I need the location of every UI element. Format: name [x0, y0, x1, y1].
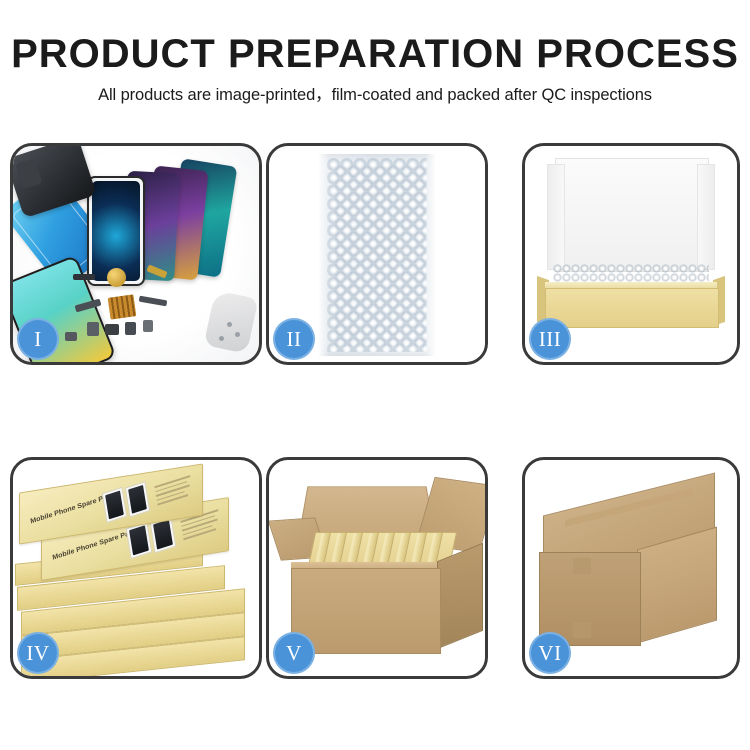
small-part-3 [125, 322, 136, 335]
small-part-1 [87, 322, 99, 336]
header: PRODUCT PREPARATION PROCESS All products… [0, 0, 750, 130]
screw-1 [227, 322, 232, 327]
process-step-grid: I II [0, 141, 750, 689]
box-thumbnail-rear-2 [125, 481, 151, 517]
step-badge-5: V [273, 632, 315, 674]
box-lid-flap-right [697, 164, 715, 270]
connector-chip [108, 294, 137, 319]
process-step-6: VI [522, 457, 740, 679]
step-badge-4: IV [17, 632, 59, 674]
process-step-4: Mobile Phone Spare Parts Mobile Phone Sp… [10, 457, 262, 679]
small-part-4 [143, 320, 153, 332]
bubble-wrap-pouch [319, 154, 435, 356]
flex-cable-3 [73, 274, 95, 280]
sealed-carton-tape-bottom [573, 622, 591, 638]
screw-2 [235, 332, 240, 337]
process-step-1: I [10, 143, 262, 365]
step-numeral-3: III [539, 329, 561, 350]
bubble-grid-secondary [334, 165, 426, 347]
step-badge-3: III [529, 318, 571, 360]
step-badge-6: VI [529, 632, 571, 674]
speaker-part [107, 268, 126, 287]
page-subtitle: All products are image-printed，film-coat… [0, 84, 750, 106]
box-lid-flap-left [547, 164, 565, 270]
small-part-2 [105, 324, 119, 335]
step-badge-1: I [17, 318, 59, 360]
process-step-3: III [522, 143, 740, 365]
carton-side-right [437, 543, 483, 650]
carton-body-front [291, 568, 441, 654]
step-numeral-1: I [34, 329, 42, 350]
pouch-edge-left [319, 154, 329, 356]
process-step-5: V [266, 457, 488, 679]
step-badge-2: II [273, 318, 315, 360]
pouch-edge-right [425, 154, 435, 356]
screw-3 [219, 336, 224, 341]
step-numeral-2: II [287, 329, 302, 350]
step-numeral-5: V [286, 643, 302, 664]
infographic-page: PRODUCT PREPARATION PROCESS All products… [0, 0, 750, 750]
step-numeral-6: VI [538, 643, 561, 664]
box-thumbnail-rear-1 [102, 487, 128, 523]
box-thumbnail-front-1 [126, 522, 153, 560]
process-step-2: II [266, 143, 488, 365]
box-spec-lines-rear [154, 474, 197, 508]
page-title: PRODUCT PREPARATION PROCESS [0, 32, 750, 76]
box-lid-back [555, 158, 709, 272]
inner-box-front [545, 288, 719, 328]
step-numeral-4: IV [26, 643, 49, 664]
small-part-5 [65, 332, 77, 341]
sealed-carton-tape-top [573, 558, 591, 574]
